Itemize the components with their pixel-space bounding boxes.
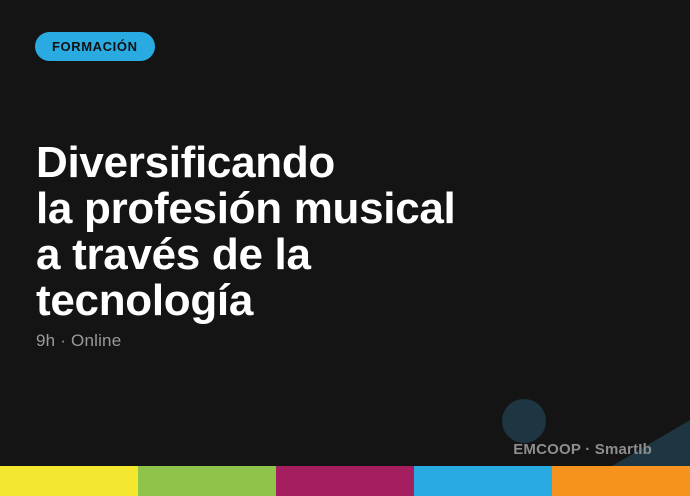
headline-line-2: la profesión musical [36,186,636,232]
course-promo-slide: FORMACIÓN Diversificando la profesión mu… [0,0,690,496]
color-bar-segment-orange [552,466,690,496]
headline-line-4: tecnología [36,278,636,324]
color-bar-segment-blue [414,466,552,496]
headline-line-1: Diversificando [36,140,636,186]
page-title: Diversificando la profesión musical a tr… [36,140,636,324]
color-bar-segment-yellow [0,466,138,496]
headline-line-3: a través de la [36,232,636,278]
bottom-color-bar [0,466,690,496]
category-badge-label: FORMACIÓN [52,39,138,54]
course-meta-duration-format: 9h · Online [36,331,121,351]
category-badge: FORMACIÓN [35,32,155,61]
brand-credit-label: EMCOOP · SmartIb [513,441,652,458]
decorative-circle-shape [502,399,546,443]
color-bar-segment-green [138,466,276,496]
color-bar-segment-magenta [276,466,414,496]
